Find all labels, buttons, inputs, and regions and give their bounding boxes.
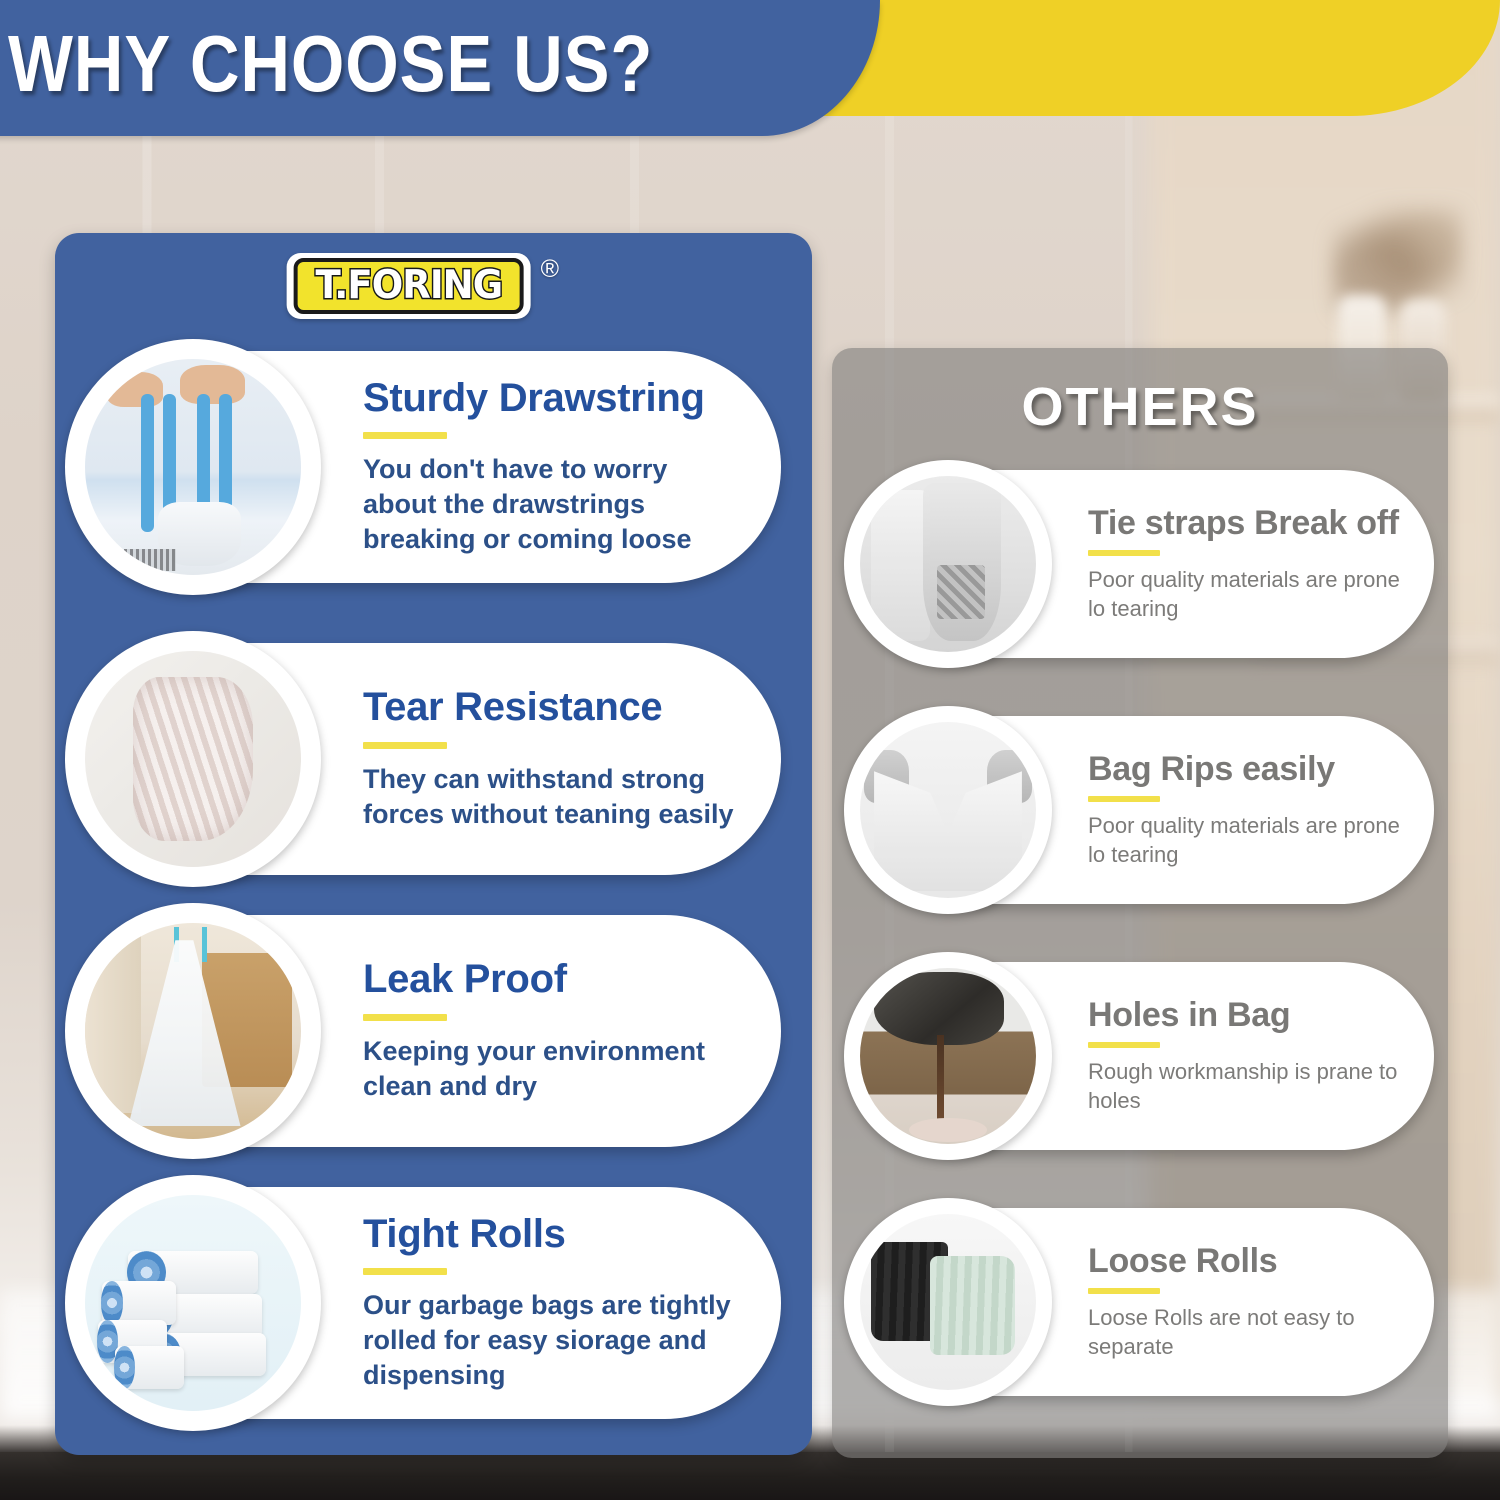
feature-thumbnail [65,339,321,595]
title-underline [363,1268,447,1275]
bag-leaking-liquid-photo [860,968,1036,1144]
drawback-title: Holes in Bag [1088,997,1408,1033]
page-title: WHY CHOOSE US? [8,18,653,110]
feature-title: Leak Proof [363,958,747,1000]
others-panel: OTHERS Tie straps Break off Poor quality… [832,348,1448,1458]
feature-card-body: Sturdy Drawstring You don't have to worr… [363,377,747,558]
person-carrying-torn-tie-bag-photo [860,476,1036,652]
ours-panel: T.FORING ® [55,233,812,1455]
drawback-title: Bag Rips easily [1088,751,1408,787]
title-underline [1088,1042,1160,1048]
drawback-thumbnail [844,1198,1052,1406]
feature-card[interactable]: Sturdy Drawstring You don't have to worr… [101,351,781,583]
feature-title: Tight Rolls [363,1213,747,1255]
hands-holding-blue-drawstring-bag-photo [85,359,301,575]
drawback-card[interactable]: Holes in Bag Rough workmanship is prane … [874,962,1434,1150]
logo-inner-frame: T.FORING [293,258,523,314]
feature-thumbnail [65,903,321,1159]
title-underline [363,742,447,749]
stacked-blue-white-bag-rolls-photo [85,1195,301,1411]
brand-logo: T.FORING ® [286,253,559,319]
feature-card-body: Tight Rolls Our garbage bags are tightly… [363,1213,747,1394]
drawback-description: Loose Rolls are not easy to separate [1088,1304,1408,1360]
title-underline [1088,550,1160,556]
drawback-card[interactable]: Tie straps Break off Poor quality materi… [874,470,1434,658]
drawback-description: Poor quality materials are prone lo tear… [1088,812,1408,868]
infographic-canvas: WHY CHOOSE US? T.FORING ® [0,0,1500,1500]
drawback-thumbnail [844,706,1052,914]
feature-card-body: Tear Resistance They can withstand stron… [363,686,747,832]
drawback-description: Rough workmanship is prane to holes [1088,1058,1408,1114]
drawback-card[interactable]: Loose Rolls Loose Rolls are not easy to … [874,1208,1434,1396]
drawback-thumbnail [844,952,1052,1160]
title-underline [1088,796,1160,802]
drawback-thumbnail [844,460,1052,668]
drawback-description: Poor quality materials are prone lo tear… [1088,566,1408,622]
feature-thumbnail [65,1175,321,1431]
feature-description: They can withstand strong forces without… [363,762,747,832]
feature-card[interactable]: Leak Proof Keeping your environment clea… [101,915,781,1147]
others-title: OTHERS [832,376,1448,438]
registered-trademark-icon: ® [541,255,559,284]
hands-ripping-bag-photo [860,722,1036,898]
loose-black-and-green-rolls-photo [860,1214,1036,1390]
feature-card[interactable]: Tear Resistance They can withstand stron… [101,643,781,875]
drawback-card-body: Tie straps Break off Poor quality materi… [1088,505,1408,622]
feature-title: Sturdy Drawstring [363,377,747,419]
drawback-card[interactable]: Bag Rips easily Poor quality materials a… [874,716,1434,904]
feature-thumbnail [65,631,321,887]
title-underline [363,432,447,439]
stretched-plastic-film-photo [85,651,301,867]
drawback-title: Loose Rolls [1088,1243,1408,1279]
logo-plate: T.FORING [286,253,530,319]
feature-description: Keeping your environment clean and dry [363,1034,747,1104]
background-bottom-band [0,1452,1500,1500]
feature-description: You don't have to worry about the drawst… [363,452,747,557]
feature-card-body: Leak Proof Keeping your environment clea… [363,958,747,1104]
drawback-card-body: Bag Rips easily Poor quality materials a… [1088,751,1408,868]
header-banner: WHY CHOOSE US? [0,0,880,136]
feature-title: Tear Resistance [363,686,747,728]
drawback-card-body: Loose Rolls Loose Rolls are not easy to … [1088,1243,1408,1360]
drawback-title: Tie straps Break off [1088,505,1408,541]
logo-text: T.FORING [315,266,502,305]
title-underline [1088,1288,1160,1294]
filled-white-bag-in-room-photo [85,923,301,1139]
feature-card[interactable]: Tight Rolls Our garbage bags are tightly… [101,1187,781,1419]
drawback-card-body: Holes in Bag Rough workmanship is prane … [1088,997,1408,1114]
title-underline [363,1014,447,1021]
feature-description: Our garbage bags are tightly rolled for … [363,1288,747,1393]
